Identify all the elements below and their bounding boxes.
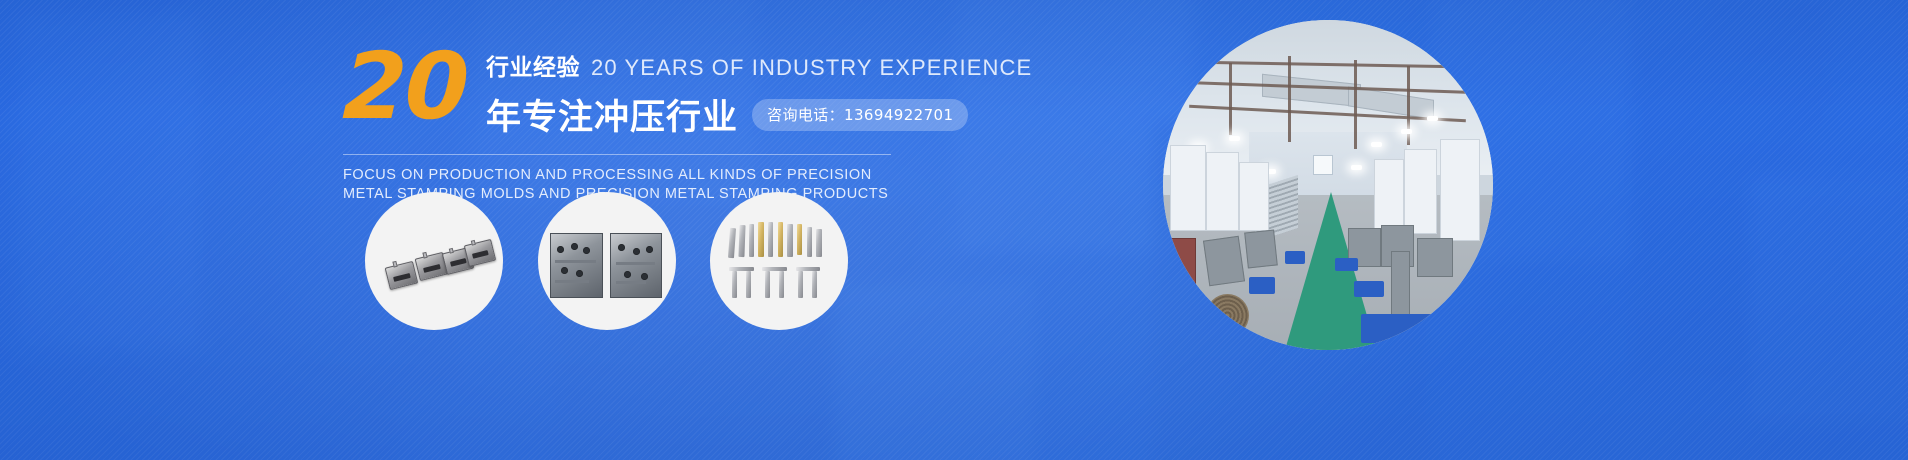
metal-terminals-photo <box>710 192 848 330</box>
stamping-mold-photo <box>538 192 676 330</box>
product-circle-terminals <box>710 192 848 330</box>
headline-line-2: 年专注冲压行业 咨询电话：13694922701 <box>486 89 1032 140</box>
factory-workshop-circle <box>1163 20 1493 350</box>
product-circle-stamping-mold <box>538 192 676 330</box>
promo-banner: 20 行业经验 20 YEARS OF INDUSTRY EXPERIENCE … <box>0 0 1908 460</box>
copy-divider <box>343 154 891 155</box>
headline-line-1: 行业经验 20 YEARS OF INDUSTRY EXPERIENCE <box>486 48 1032 82</box>
years-number: 20 <box>342 47 469 126</box>
usb-connectors-photo <box>365 192 503 330</box>
headline-text-group: 行业经验 20 YEARS OF INDUSTRY EXPERIENCE 年专注… <box>486 42 1032 140</box>
product-circle-usb-connectors <box>365 192 503 330</box>
factory-workshop-photo <box>1163 20 1493 350</box>
headline-row: 20 行业经验 20 YEARS OF INDUSTRY EXPERIENCE … <box>343 42 903 140</box>
experience-cn-label: 行业经验 <box>486 48 580 82</box>
phone-badge[interactable]: 咨询电话：13694922701 <box>752 99 968 131</box>
banner-copy: 20 行业经验 20 YEARS OF INDUSTRY EXPERIENCE … <box>343 42 903 204</box>
headline-cn-main: 年专注冲压行业 <box>486 89 738 140</box>
experience-en-label: 20 YEARS OF INDUSTRY EXPERIENCE <box>591 55 1032 81</box>
